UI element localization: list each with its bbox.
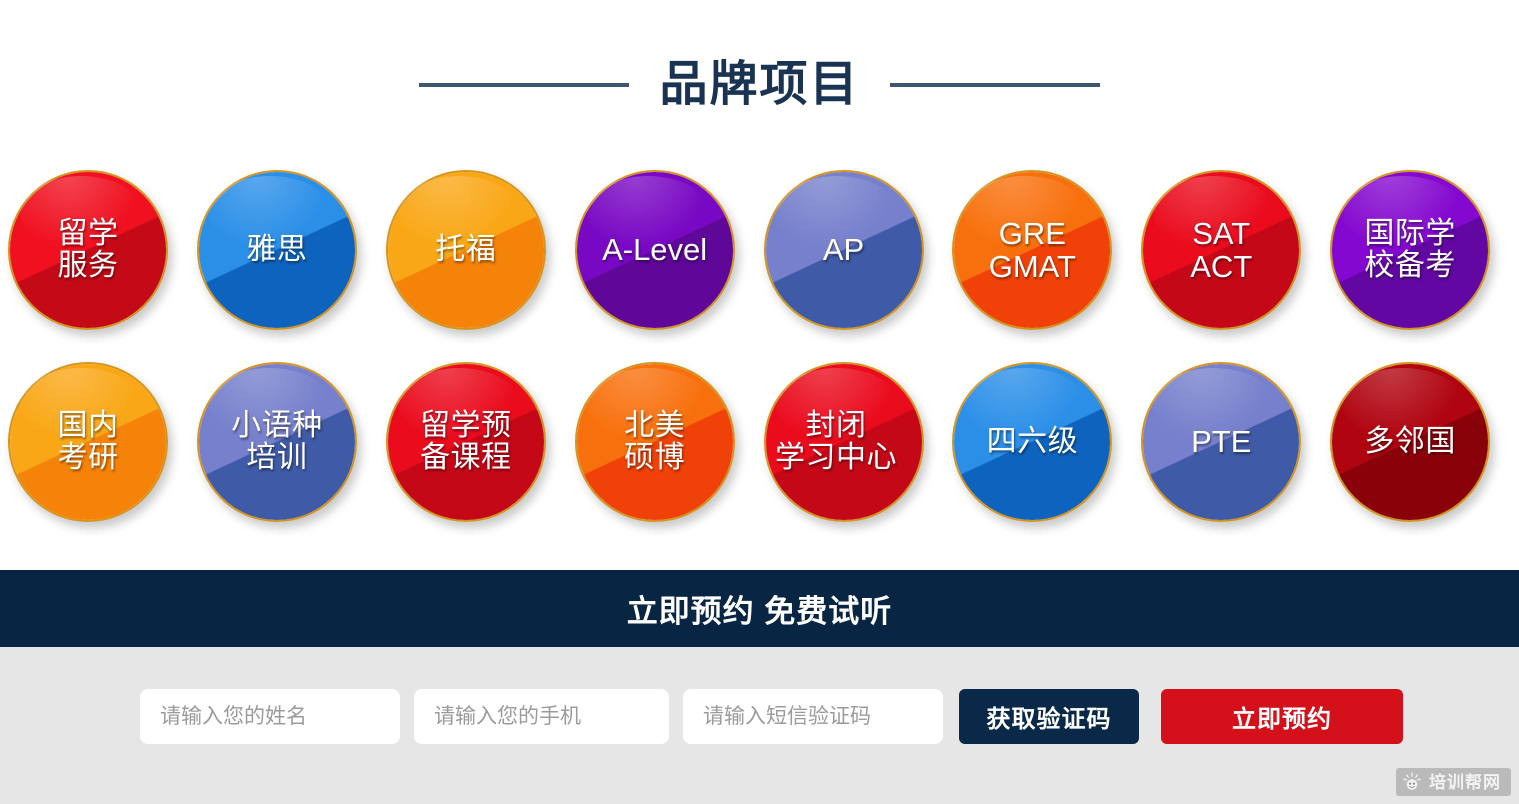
program-circle-ap[interactable]: AP xyxy=(764,170,924,330)
program-row-2: 国内 考研 小语种 培训 留学预 备课程 北美 硕博 封闭 学习中心 四六级 xyxy=(0,362,1519,522)
program-circle-cet-4-6[interactable]: 四六级 xyxy=(952,362,1112,522)
program-cell: A-Level xyxy=(575,170,764,330)
program-circle-a-level[interactable]: A-Level xyxy=(575,170,735,330)
program-label: 国内 考研 xyxy=(58,410,119,475)
program-label: 托福 xyxy=(435,234,496,266)
program-label: 留学预 备课程 xyxy=(420,410,512,475)
watermark-text: 培训帮网 xyxy=(1429,774,1501,791)
program-label: 留学 服务 xyxy=(58,218,119,283)
program-cell: 托福 xyxy=(386,170,575,330)
program-grid: 留学 服务 雅思 托福 A-Level AP GRE GMAT xyxy=(0,170,1519,570)
program-cell: 北美 硕博 xyxy=(575,362,764,522)
program-cell: 留学 服务 xyxy=(8,170,197,330)
program-circle-domestic-postgrad-exam[interactable]: 国内 考研 xyxy=(8,362,168,522)
program-circle-north-america-master-phd[interactable]: 北美 硕博 xyxy=(575,362,735,522)
program-circle-study-abroad-prep-course[interactable]: 留学预 备课程 xyxy=(386,362,546,522)
program-label: GRE GMAT xyxy=(989,217,1076,284)
name-input[interactable] xyxy=(140,689,400,744)
form-row: 获取验证码 立即预约 xyxy=(140,689,1403,744)
title-rule-left xyxy=(419,83,629,87)
program-circle-sat-act[interactable]: SAT ACT xyxy=(1141,170,1301,330)
program-cell: 留学预 备课程 xyxy=(386,362,575,522)
program-label: PTE xyxy=(1191,425,1251,458)
program-circle-closed-study-center[interactable]: 封闭 学习中心 xyxy=(764,362,924,522)
submit-appointment-button[interactable]: 立即预约 xyxy=(1161,689,1403,744)
program-label: 封闭 学习中心 xyxy=(751,410,922,475)
program-label: 四六级 xyxy=(987,426,1079,458)
program-circle-study-abroad-service[interactable]: 留学 服务 xyxy=(8,170,168,330)
program-cell: SAT ACT xyxy=(1141,170,1330,330)
cta-banner: 立即预约 免费试听 xyxy=(0,570,1519,647)
program-circle-pte[interactable]: PTE xyxy=(1141,362,1301,522)
program-cell: 雅思 xyxy=(197,170,386,330)
program-cell: 多邻国 xyxy=(1330,362,1519,522)
appointment-form: 获取验证码 立即预约 xyxy=(0,647,1519,804)
program-label: 北美 硕博 xyxy=(624,410,685,475)
program-circle-ielts[interactable]: 雅思 xyxy=(197,170,357,330)
program-label: 多邻国 xyxy=(1364,426,1456,458)
program-circle-gre-gmat[interactable]: GRE GMAT xyxy=(952,170,1112,330)
title-rule-right xyxy=(890,83,1100,87)
program-label: 国际学 校备考 xyxy=(1364,218,1456,283)
program-circle-intl-school-prep[interactable]: 国际学 校备考 xyxy=(1330,170,1490,330)
program-circle-duolingo[interactable]: 多邻国 xyxy=(1330,362,1490,522)
sms-code-input[interactable] xyxy=(683,689,943,744)
program-cell: AP xyxy=(764,170,953,330)
program-cell: 小语种 培训 xyxy=(197,362,386,522)
program-cell: GRE GMAT xyxy=(952,170,1141,330)
program-label: SAT ACT xyxy=(1190,217,1252,284)
sun-face-icon xyxy=(1402,772,1422,792)
phone-input[interactable] xyxy=(414,689,669,744)
program-label: AP xyxy=(823,233,864,266)
program-cell: 国内 考研 xyxy=(8,362,197,522)
program-label: 雅思 xyxy=(246,234,307,266)
program-cell: 四六级 xyxy=(952,362,1141,522)
get-sms-code-button[interactable]: 获取验证码 xyxy=(959,689,1139,744)
site-watermark: 培训帮网 xyxy=(1396,768,1511,796)
program-label: 小语种 培训 xyxy=(231,410,323,475)
page-title: 品牌项目 xyxy=(659,61,859,109)
program-cell: PTE xyxy=(1141,362,1330,522)
program-circle-minor-language-training[interactable]: 小语种 培训 xyxy=(197,362,357,522)
program-label: A-Level xyxy=(602,233,707,266)
program-cell: 封闭 学习中心 xyxy=(764,362,953,522)
cta-banner-text: 立即预约 免费试听 xyxy=(627,586,893,631)
program-row-1: 留学 服务 雅思 托福 A-Level AP GRE GMAT xyxy=(0,170,1519,330)
page-header: 品牌项目 xyxy=(0,0,1519,170)
program-cell: 国际学 校备考 xyxy=(1330,170,1519,330)
program-circle-toefl[interactable]: 托福 xyxy=(386,170,546,330)
